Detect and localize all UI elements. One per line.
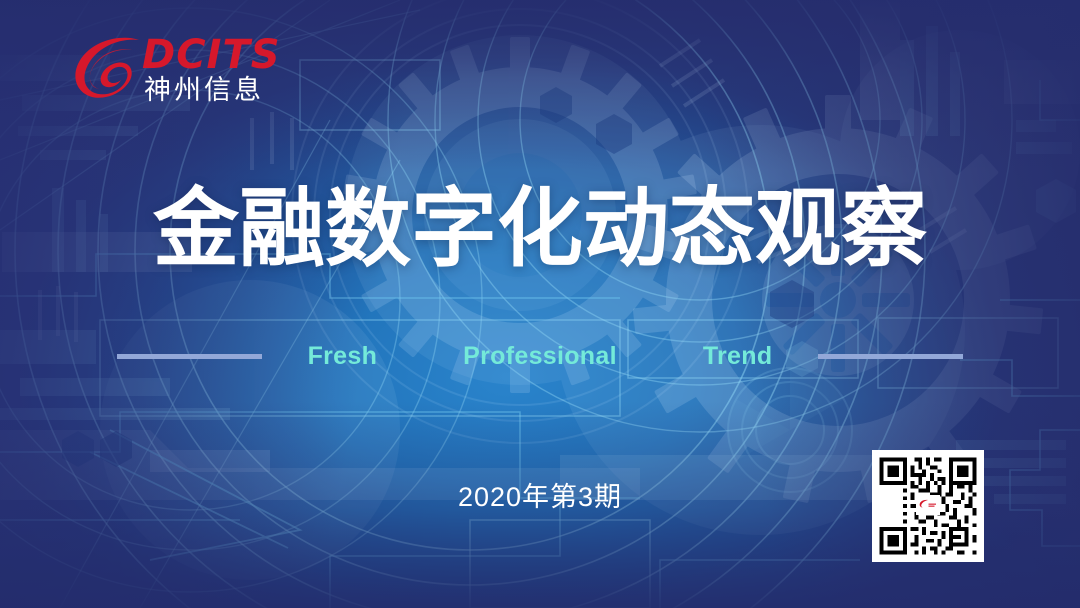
tagline-rule-right <box>818 354 963 359</box>
dcits-wordmark: DCITS <box>142 35 281 75</box>
tagline-word-professional: Professional <box>463 344 617 369</box>
dcits-logo: DCITS 神州信息 <box>72 32 282 108</box>
dcits-chinese-name: 神州信息 <box>144 77 264 104</box>
qr-code[interactable] <box>872 450 984 562</box>
tagline-word-fresh: Fresh <box>308 344 378 369</box>
tagline-rule-left <box>117 354 262 359</box>
presentation-cover-slide: DCITS 神州信息 金融数字化动态观察 Fresh Professional … <box>0 0 1080 608</box>
tagline-word-trend: Trend <box>703 344 773 369</box>
dcits-swoosh-icon <box>72 34 144 102</box>
qr-center-logo <box>916 495 940 515</box>
slide-title: 金融数字化动态观察 <box>0 186 1080 272</box>
tagline-row: Fresh Professional Trend <box>0 338 1080 374</box>
